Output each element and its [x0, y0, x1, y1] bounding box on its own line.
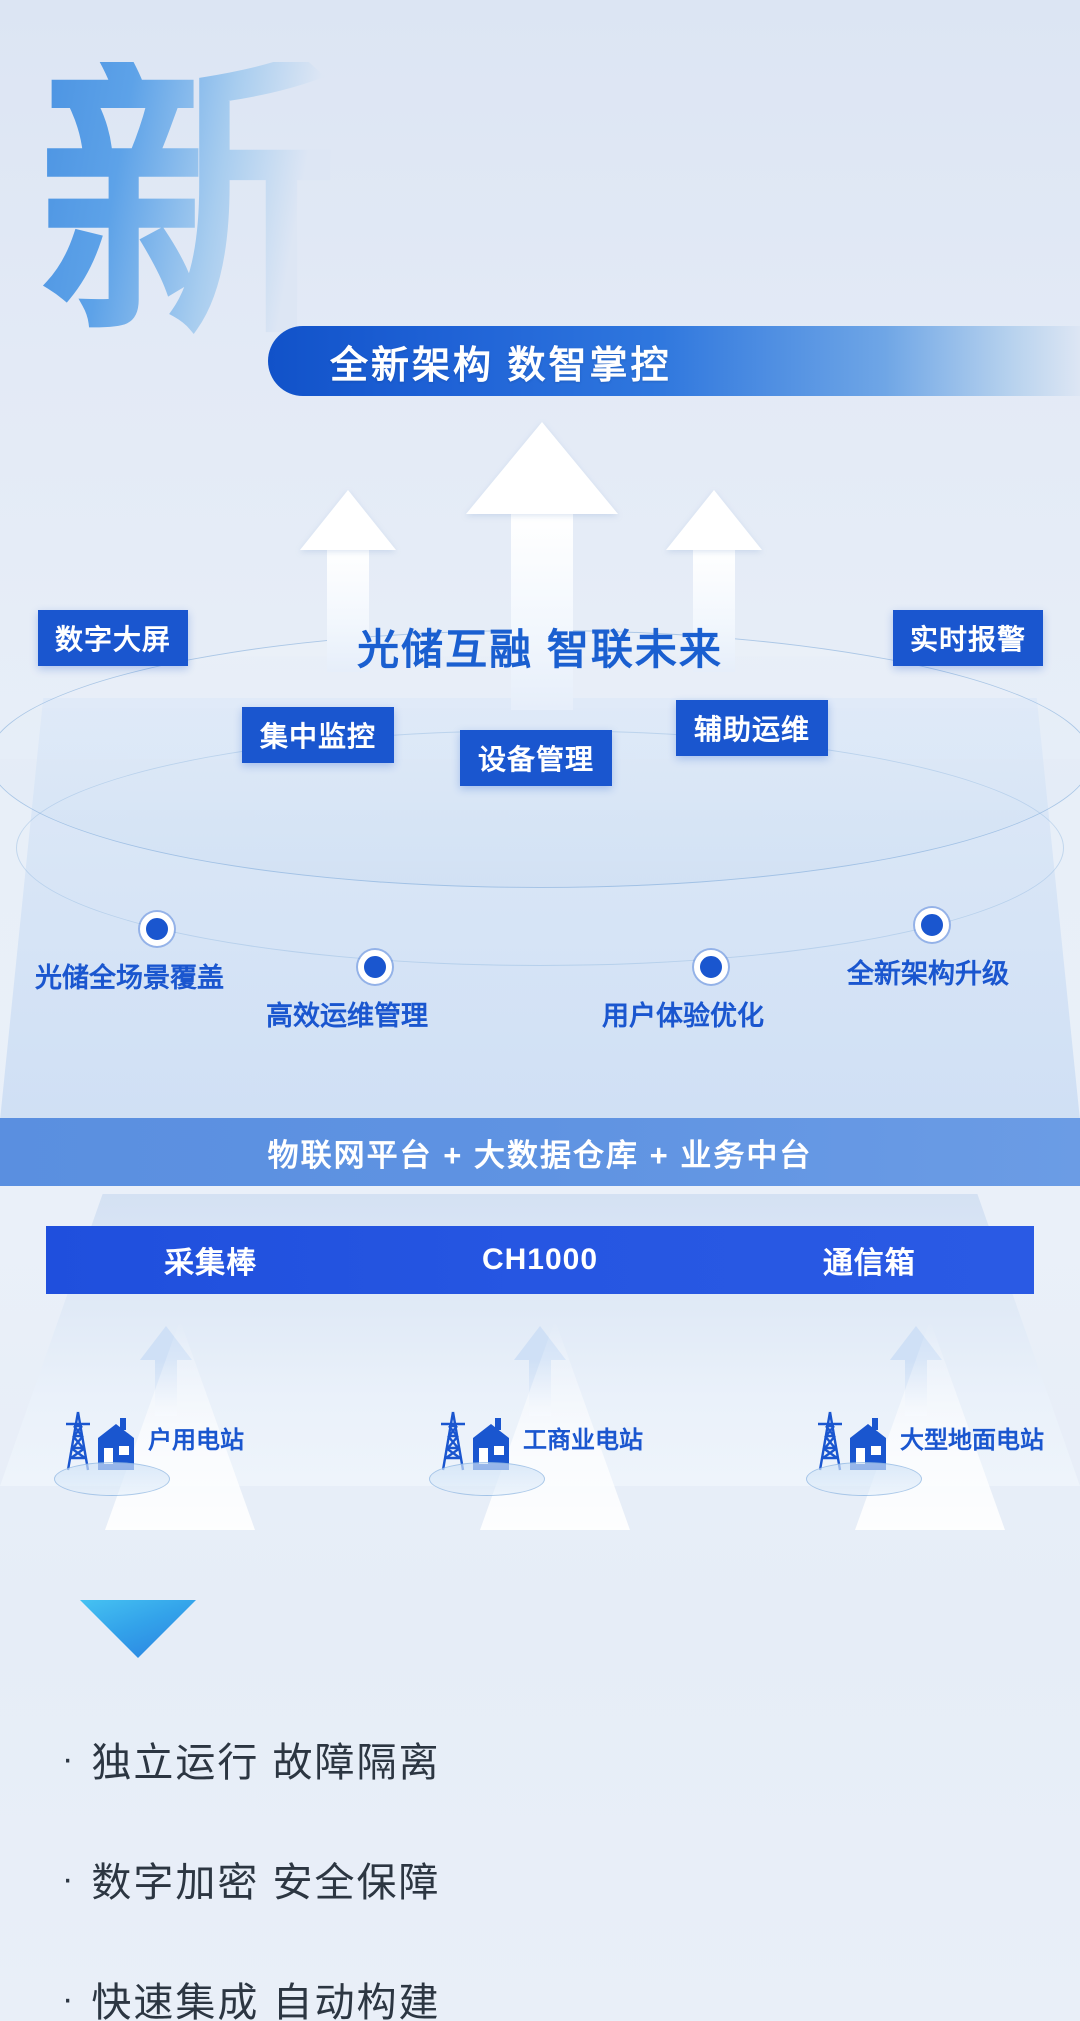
- list-item: · 独立运行 故障隔离: [62, 1730, 962, 1788]
- list-item: · 快速集成 自动构建: [62, 1970, 962, 2021]
- station-residential: 户用电站: [60, 1408, 146, 1485]
- device-item-collector[interactable]: 采集棒: [46, 1238, 375, 1282]
- arrow-shaft: [511, 514, 573, 710]
- list-item-label: 快速集成 自动构建: [91, 1970, 440, 2021]
- platform-band: 物联网平台 + 大数据仓库 + 业务中台: [0, 1118, 1080, 1186]
- station-label: 户用电站: [148, 1420, 244, 1455]
- station-base-disc: [429, 1462, 545, 1496]
- station-base-disc: [54, 1462, 170, 1496]
- platform-stage: 光储互融 智联未来 数字大屏 实时报警 集中监控 设备管理 辅助运维 光储全场景…: [0, 430, 1080, 1120]
- platform-band-label: 物联网平台 + 大数据仓库 + 业务中台: [268, 1130, 813, 1175]
- ring-marker-icon: [140, 912, 174, 946]
- watermark-character: 新: [38, 62, 338, 342]
- tag-digital-screen[interactable]: 数字大屏: [38, 610, 188, 666]
- device-bar: 采集棒 CH1000 通信箱: [46, 1226, 1034, 1294]
- station-utility: 大型地面电站: [812, 1408, 898, 1485]
- hero-section: 新 全新架构 数智掌控: [0, 0, 1080, 430]
- tag-assisted-ops[interactable]: 辅助运维: [676, 700, 828, 756]
- tag-label: 数字大屏: [55, 618, 171, 658]
- stations-section: 户用电站 工商业电站: [0, 1300, 1080, 1530]
- feature-ux-optimization: 用户体验优化: [694, 950, 728, 984]
- station-base-disc: [806, 1462, 922, 1496]
- bullet-dot: ·: [62, 1862, 75, 1896]
- tag-label: 集中监控: [260, 715, 376, 755]
- tag-device-management[interactable]: 设备管理: [460, 730, 612, 786]
- station-label: 工商业电站: [523, 1420, 643, 1455]
- title-banner: 全新架构 数智掌控: [268, 326, 1080, 396]
- station-commercial: 工商业电站: [435, 1408, 521, 1485]
- device-item-ch1000[interactable]: CH1000: [375, 1243, 704, 1277]
- ring-marker-icon: [694, 950, 728, 984]
- tag-label: 实时报警: [910, 618, 1026, 658]
- feature-full-coverage: 光储全场景覆盖: [140, 912, 174, 946]
- bullet-dot: ·: [62, 1742, 75, 1776]
- feature-architecture-upgrade: 全新架构升级: [915, 908, 949, 942]
- tag-label: 设备管理: [478, 738, 594, 778]
- tag-centralized-monitoring[interactable]: 集中监控: [242, 707, 394, 763]
- feature-efficient-ops: 高效运维管理: [358, 950, 392, 984]
- tag-label: 辅助运维: [694, 708, 810, 748]
- arrow-head-icon: [300, 490, 396, 550]
- feature-label: 全新架构升级: [847, 952, 1009, 991]
- bullet-dot: ·: [62, 1982, 75, 2016]
- feature-label: 光储全场景覆盖: [35, 956, 224, 995]
- list-item-label: 数字加密 安全保障: [91, 1850, 440, 1908]
- bottom-section: · 独立运行 故障隔离 · 数字加密 安全保障 · 快速集成 自动构建: [0, 1530, 1080, 2021]
- feature-label: 高效运维管理: [266, 994, 428, 1033]
- list-item: · 数字加密 安全保障: [62, 1850, 962, 1908]
- page-title: 全新架构 数智掌控: [330, 334, 672, 389]
- tag-realtime-alarm[interactable]: 实时报警: [893, 610, 1043, 666]
- infographic-poster: 新 全新架构 数智掌控 光储互融 智联未来 数字大屏 实时报警: [0, 0, 1080, 2021]
- arrow-head-icon: [466, 422, 618, 514]
- device-item-comm-box[interactable]: 通信箱: [705, 1238, 1034, 1282]
- list-item-label: 独立运行 故障隔离: [91, 1730, 440, 1788]
- ring-marker-icon: [358, 950, 392, 984]
- down-triangle-icon: [80, 1600, 196, 1658]
- benefit-list: · 独立运行 故障隔离 · 数字加密 安全保障 · 快速集成 自动构建: [62, 1730, 962, 2021]
- ring-marker-icon: [915, 908, 949, 942]
- station-label: 大型地面电站: [900, 1420, 1044, 1455]
- feature-label: 用户体验优化: [602, 994, 764, 1033]
- arrow-head-icon: [666, 490, 762, 550]
